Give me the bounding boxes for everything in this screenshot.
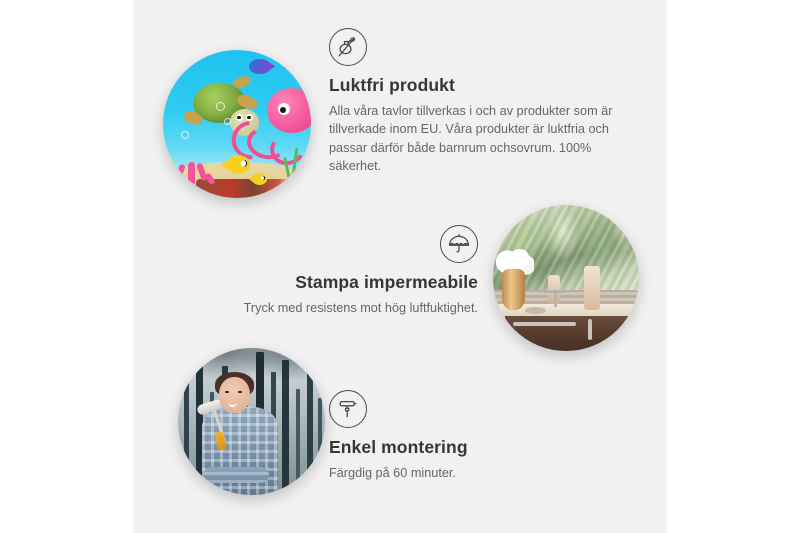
feature-title: Stampa impermeabile — [193, 272, 478, 294]
person-eye — [225, 391, 229, 394]
water-bubble — [216, 102, 225, 111]
installer-person-photo — [178, 348, 325, 495]
ocean-cartoon-photo — [163, 50, 311, 198]
feature-description: Färgdig på 60 minuter. — [329, 464, 629, 483]
feature-block-easy-installation: Enkel montering Färgdig på 60 minuter. — [329, 390, 629, 482]
blue-fish — [249, 59, 271, 74]
content-panel: Luktfri produkt Alla våra tavlor tillver… — [133, 0, 667, 533]
gold-vase — [502, 269, 525, 310]
pink-coral — [170, 148, 214, 186]
feature-description: Tryck med resistens mot hög luftfuktighe… — [193, 299, 478, 318]
product-feature-infographic: Luktfri produkt Alla våra tavlor tillver… — [0, 0, 800, 533]
feature-description: Alla våra tavlor tillverkas i och av pro… — [329, 102, 629, 176]
paint-roller-icon — [329, 390, 367, 428]
feature-title: Enkel montering — [329, 437, 629, 459]
person-face — [219, 377, 250, 412]
person-crossed-arms — [204, 467, 269, 483]
umbrella-icon — [440, 225, 478, 263]
no-fragrance-icon — [329, 28, 367, 66]
feature-block-waterproof-print: Stampa impermeabile Tryck med resistens … — [193, 225, 478, 317]
feature-block-odour-free: Luktfri produkt Alla våra tavlor tillver… — [329, 28, 629, 176]
faucet — [554, 290, 557, 308]
feature-title: Luktfri produkt — [329, 75, 629, 97]
turtle-eye — [236, 114, 243, 121]
soap-bottle — [584, 266, 600, 310]
yellow-fish — [252, 173, 267, 185]
water-bubble — [224, 118, 231, 125]
wooden-vanity-cabinet — [505, 316, 639, 351]
bathroom-wallpaper-photo — [493, 205, 639, 351]
